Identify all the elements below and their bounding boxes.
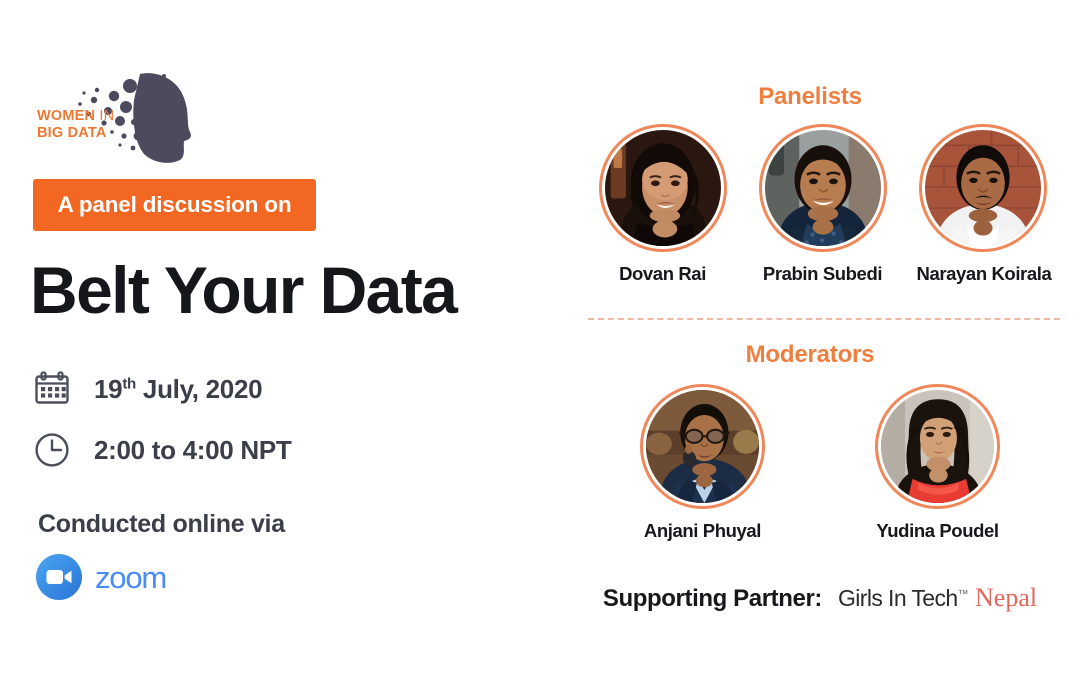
conducted-online-label: Conducted online via: [38, 510, 285, 539]
panelists-row: Dovan Rai: [565, 124, 1080, 285]
partner-brand-name: Girls In Tech: [838, 585, 958, 611]
event-time-row: 2:00 to 4:00 NPT: [30, 428, 292, 472]
clock-icon: [30, 428, 74, 472]
supporting-partner-row: Supporting Partner: Girls In Tech™Nepal: [560, 583, 1080, 613]
panelist-dovan-rai: Dovan Rai: [597, 124, 729, 285]
moderators-row: Anjani Phuyal: [575, 384, 1065, 542]
person-name: Prabin Subedi: [757, 263, 889, 285]
event-date-day: 19: [94, 374, 122, 404]
event-date-text: 19th July, 2020: [94, 374, 262, 405]
portrait-prabin-subedi: [765, 130, 881, 246]
section-divider: [588, 318, 1060, 320]
avatar: [759, 124, 887, 252]
women-in-big-data-logo: WOMEN IN BIG DATA: [34, 66, 224, 166]
panelist-prabin-subedi: Prabin Subedi: [757, 124, 889, 285]
avatar: [640, 384, 765, 509]
calendar-icon: [30, 367, 74, 411]
supporting-partner-label: Supporting Partner:: [603, 585, 822, 613]
partner-brand-region: Nepal: [975, 583, 1037, 612]
avatar: [599, 124, 727, 252]
portrait-yudina-poudel: [881, 390, 994, 503]
event-date-row: 19th July, 2020: [30, 367, 262, 411]
event-time-text: 2:00 to 4:00 NPT: [94, 435, 292, 466]
panel-discussion-banner: A panel discussion on: [33, 179, 316, 231]
person-name: Dovan Rai: [597, 263, 729, 285]
trademark-mark: ™: [958, 588, 968, 600]
moderators-heading: Moderators: [550, 341, 1070, 369]
banner-label: A panel discussion on: [58, 192, 292, 218]
right-panel: Panelists: [560, 0, 1080, 675]
moderator-yudina-poudel: Yudina Poudel: [870, 384, 1005, 542]
event-date-ordinal: th: [122, 375, 136, 392]
logo-line-1-bold: WOMEN: [37, 108, 95, 124]
portrait-dovan-rai: [605, 130, 721, 246]
logo-line-2: BIG DATA: [37, 125, 107, 141]
left-panel: WOMEN IN BIG DATA A panel discussion on …: [0, 0, 560, 675]
avatar: [919, 124, 1047, 252]
portrait-narayan-koirala: [925, 130, 1041, 246]
zoom-logo[interactable]: zoom: [36, 554, 166, 600]
event-poster: WOMEN IN BIG DATA A panel discussion on …: [0, 0, 1080, 675]
person-name: Yudina Poudel: [870, 520, 1005, 542]
event-date-rest: July, 2020: [143, 374, 262, 404]
person-name: Anjani Phuyal: [635, 520, 770, 542]
girls-in-tech-logo: Girls In Tech™Nepal: [838, 583, 1037, 613]
moderator-anjani-phuyal: Anjani Phuyal: [635, 384, 770, 542]
logo-text: WOMEN IN BIG DATA: [37, 108, 114, 142]
portrait-anjani-phuyal: [646, 390, 759, 503]
logo-line-1-light: IN: [95, 108, 114, 124]
person-name: Narayan Koirala: [917, 263, 1049, 285]
zoom-camera-icon: [36, 554, 82, 600]
zoom-wordmark: zoom: [95, 562, 166, 593]
panelists-heading: Panelists: [550, 83, 1070, 111]
avatar: [875, 384, 1000, 509]
event-title: Belt Your Data: [30, 252, 456, 328]
panelist-narayan-koirala: Narayan Koirala: [917, 124, 1049, 285]
